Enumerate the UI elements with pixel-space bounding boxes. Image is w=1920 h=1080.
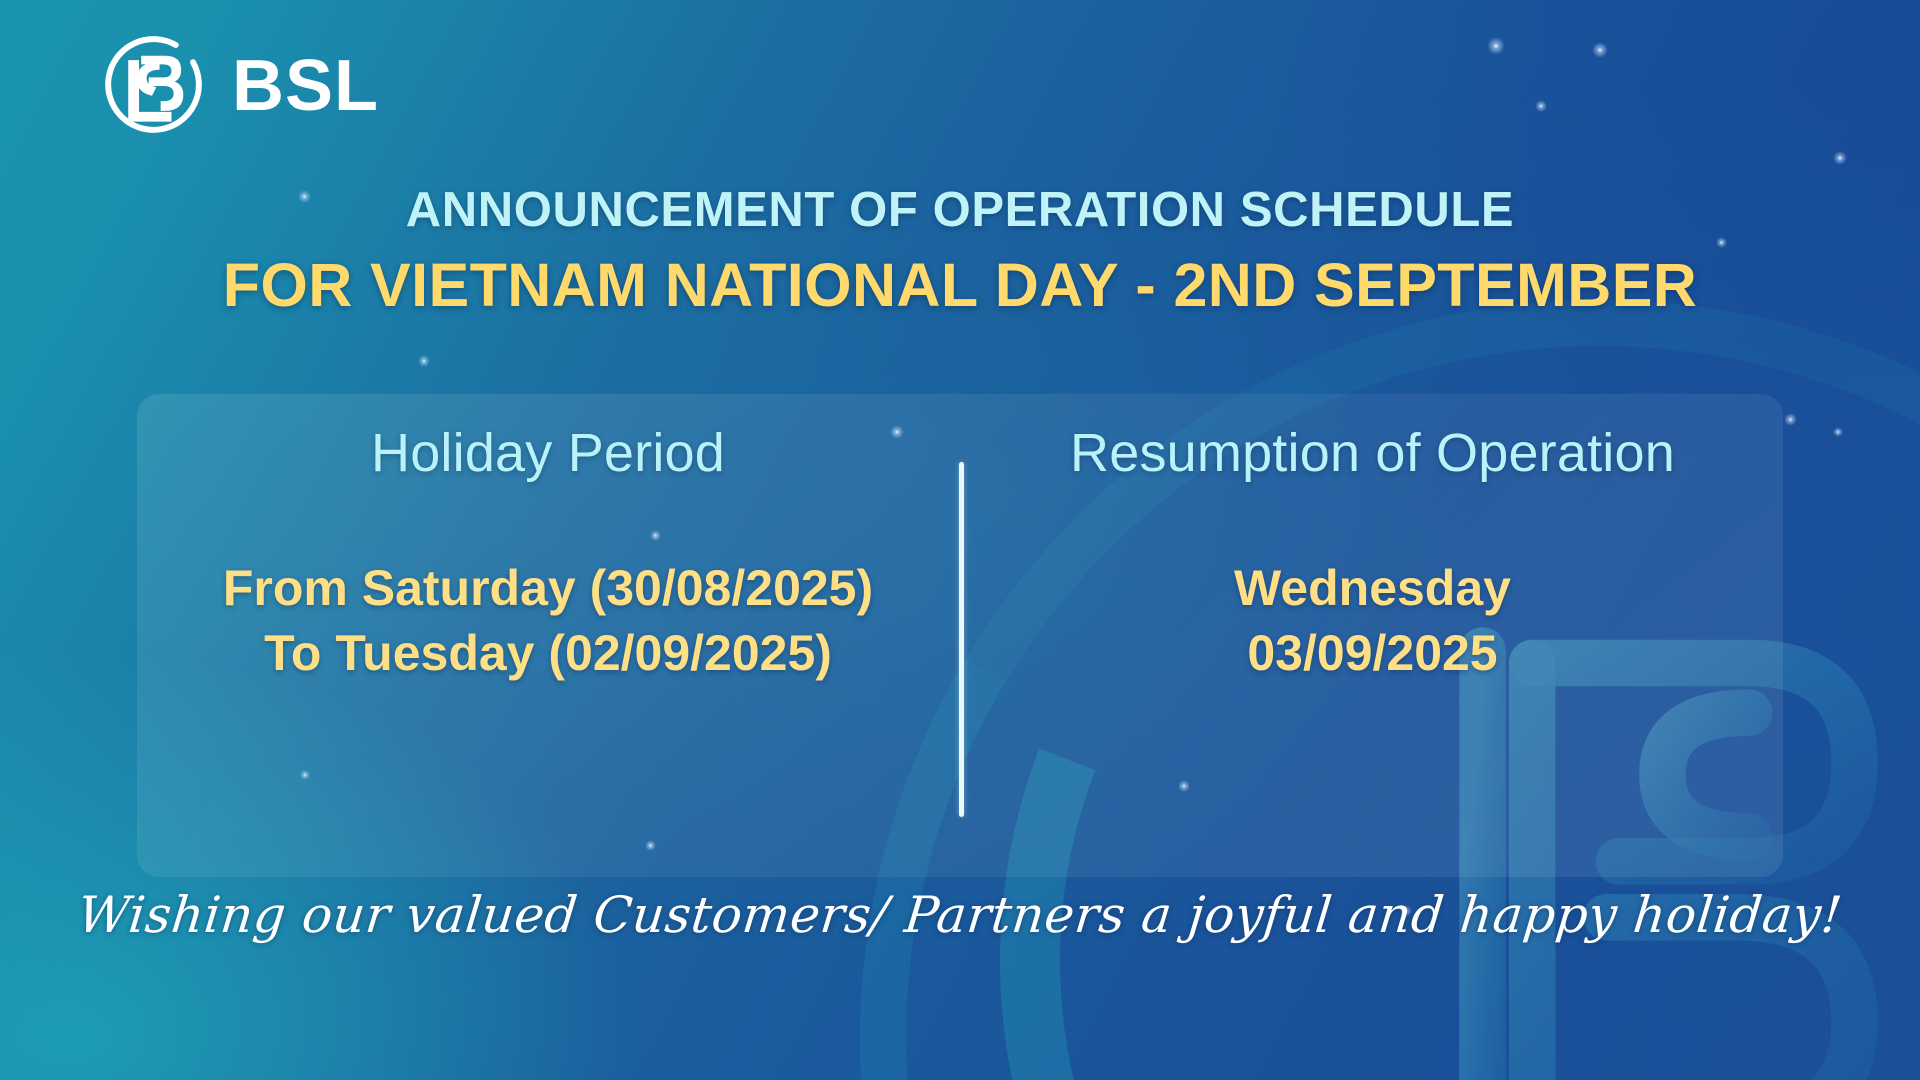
schedule-line: To Tuesday (02/09/2025)	[137, 621, 959, 686]
headline: ANNOUNCEMENT OF OPERATION SCHEDULE	[0, 182, 1920, 238]
subheadline: FOR VIETNAM NATIONAL DAY - 2ND SEPTEMBER	[0, 250, 1920, 320]
column-heading: Holiday Period	[137, 422, 959, 484]
announcement-content: BSL ANNOUNCEMENT OF OPERATION SCHEDULE F…	[0, 0, 1920, 1080]
footer-message: Wishing our valued Customers/ Partners a…	[0, 886, 1920, 944]
schedule-column-holiday-period: Holiday Period From Saturday (30/08/2025…	[137, 394, 959, 686]
schedule-line: From Saturday (30/08/2025)	[137, 556, 959, 621]
brand-wordmark: BSL	[232, 50, 379, 122]
column-body: Wednesday 03/09/2025	[962, 556, 1783, 686]
schedule-line: 03/09/2025	[962, 621, 1783, 686]
brand-logo: BSL	[98, 32, 379, 140]
schedule-line: Wednesday	[962, 556, 1783, 621]
bsl-circle-monogram-icon	[98, 32, 206, 140]
column-heading: Resumption of Operation	[962, 422, 1783, 484]
column-body: From Saturday (30/08/2025) To Tuesday (0…	[137, 556, 959, 686]
schedule-column-resumption: Resumption of Operation Wednesday 03/09/…	[962, 394, 1783, 686]
